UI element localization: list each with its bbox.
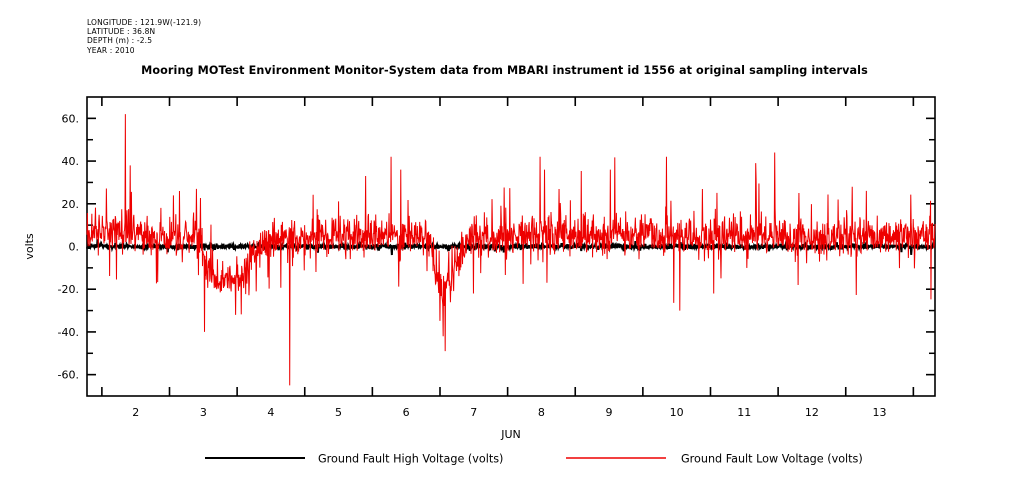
y-tick-label: 40. (62, 155, 80, 168)
x-tick-label: 10 (670, 406, 684, 419)
x-tick-label: 6 (403, 406, 410, 419)
plot-series (87, 114, 935, 385)
x-tick-label: 4 (267, 406, 274, 419)
x-axis-title: JUN (500, 428, 521, 441)
x-tick-label: 2 (132, 406, 139, 419)
x-tick-label: 11 (737, 406, 751, 419)
x-tick-label: 3 (200, 406, 207, 419)
y-tick-label: 60. (62, 112, 80, 125)
x-tick-label: 8 (538, 406, 545, 419)
legend-label: Ground Fault High Voltage (volts) (318, 453, 503, 466)
x-tick-label: 7 (470, 406, 477, 419)
x-tick-label: 13 (873, 406, 887, 419)
timeseries-plot: -60.-40.-20.0.20.40.60.volts234567891011… (0, 0, 1009, 504)
legend-item[interactable]: Ground Fault High Voltage (volts) (205, 453, 503, 466)
x-tick-label: 9 (606, 406, 613, 419)
plot-tick-labels: -60.-40.-20.0.20.40.60.volts234567891011… (23, 112, 887, 441)
x-tick-label: 12 (805, 406, 819, 419)
x-tick-label: 5 (335, 406, 342, 419)
y-tick-label: -20. (58, 283, 79, 296)
chart-page: LONGITUDE : 121.9W(-121.9) LATITUDE : 36… (0, 0, 1009, 504)
y-tick-label: 0. (69, 241, 80, 254)
legend-label: Ground Fault Low Voltage (volts) (681, 453, 863, 466)
y-tick-label: 20. (62, 198, 80, 211)
y-tick-label: -60. (58, 369, 79, 382)
y-tick-label: -40. (58, 326, 79, 339)
chart-legend: Ground Fault High Voltage (volts)Ground … (205, 453, 863, 466)
legend-item[interactable]: Ground Fault Low Voltage (volts) (566, 453, 863, 466)
y-axis-title: volts (23, 233, 36, 260)
